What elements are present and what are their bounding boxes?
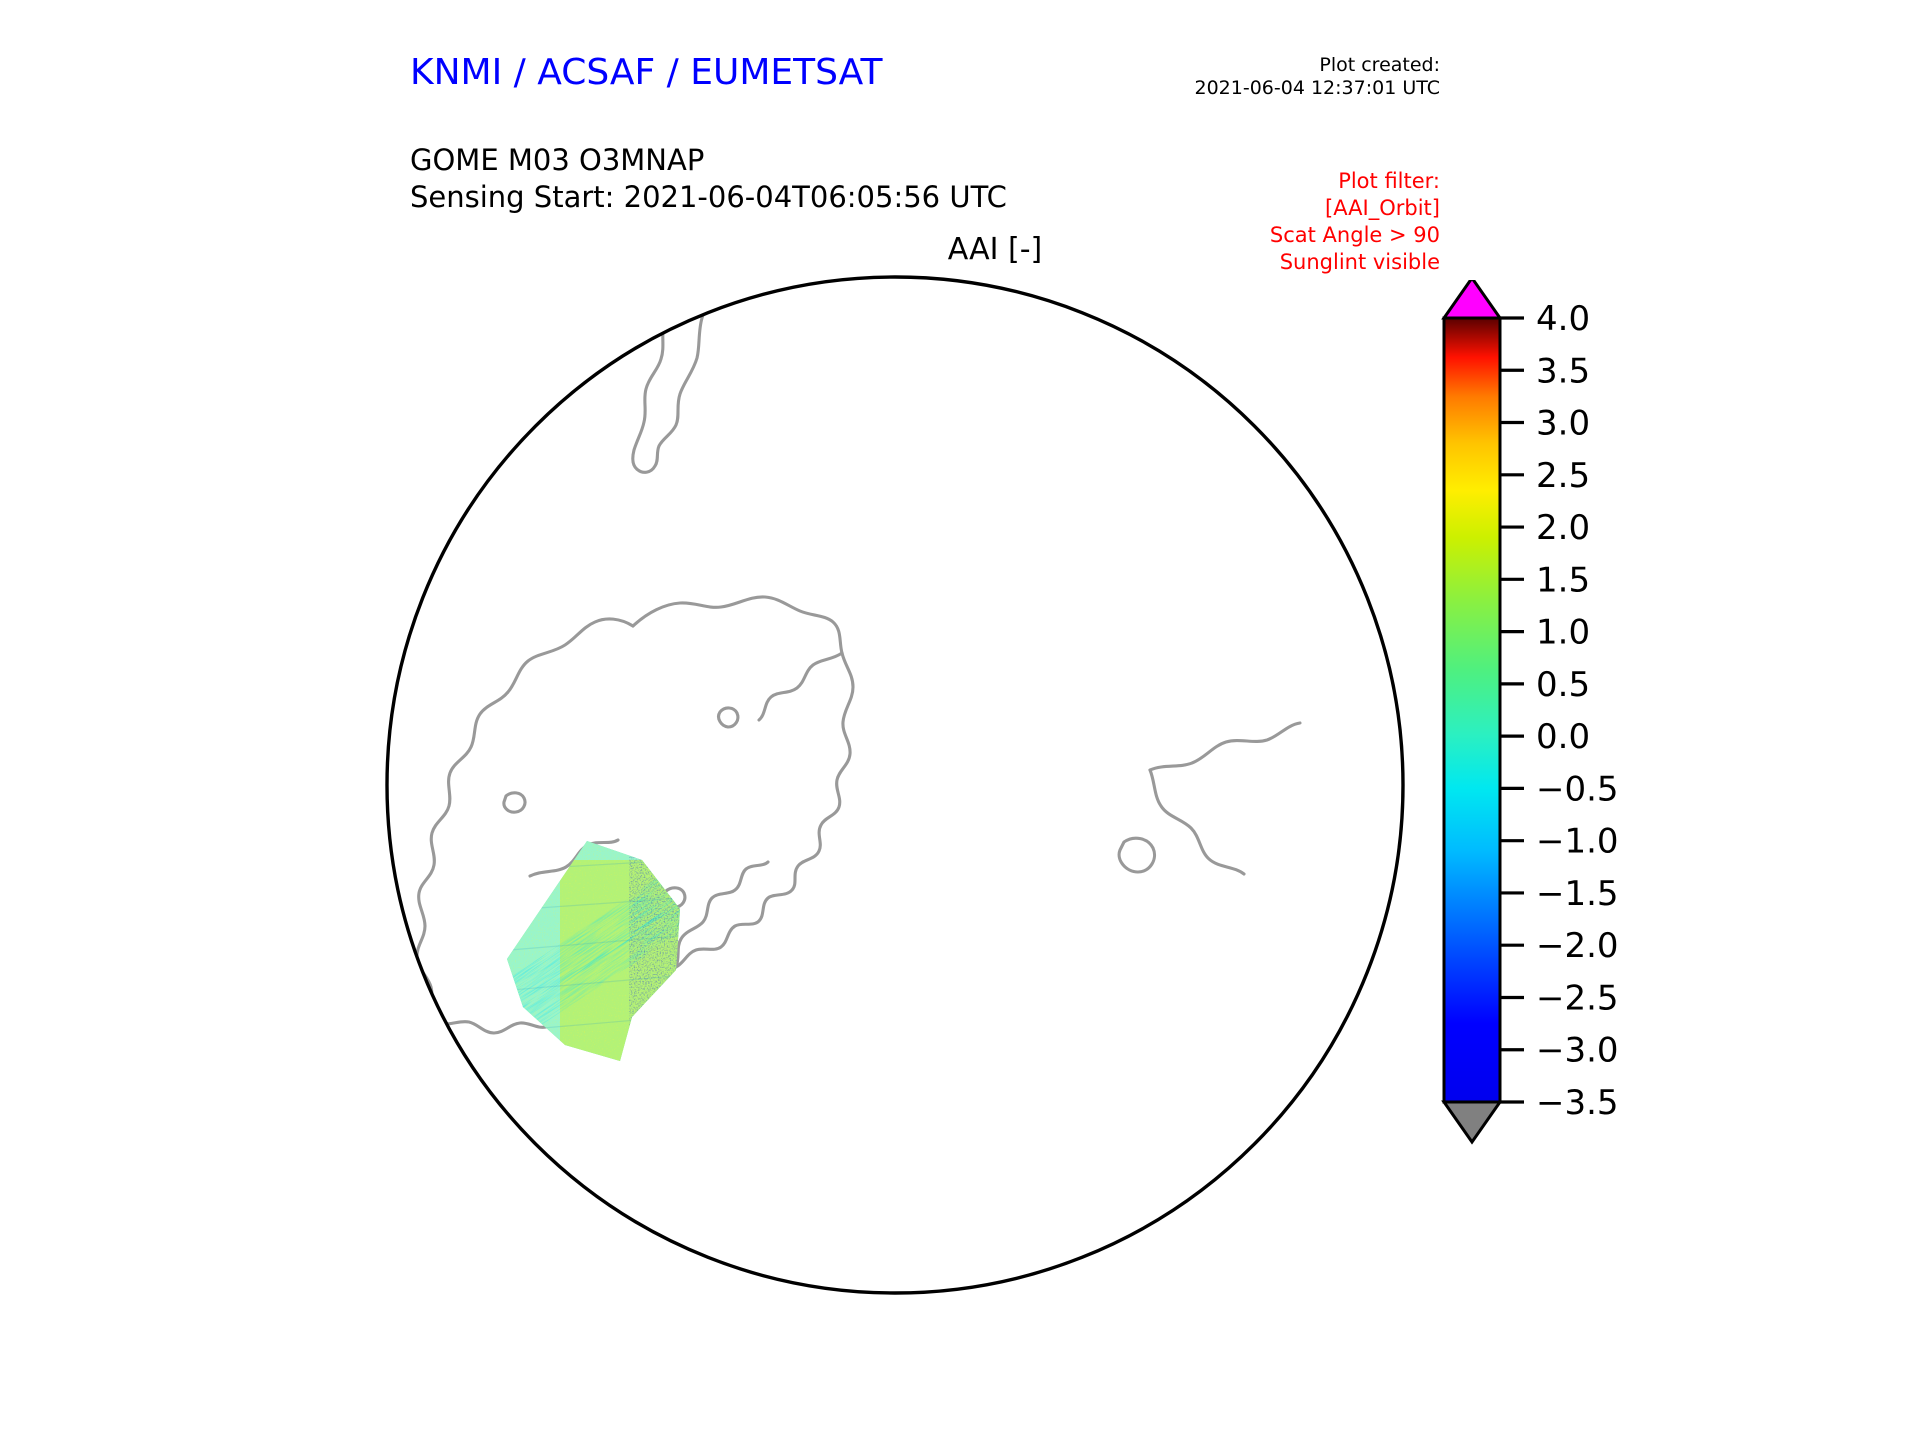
colorbar: 4.03.53.02.52.01.51.00.50.0−0.5−1.0−1.5−… xyxy=(1432,280,1762,1300)
organization-title: KNMI / ACSAF / EUMETSAT xyxy=(410,52,882,93)
plot-created-timestamp: 2021-06-04 12:37:01 UTC xyxy=(1020,77,1440,100)
colorbar-tick-label: 3.0 xyxy=(1536,404,1590,444)
colorbar-tick-label: 1.5 xyxy=(1536,560,1590,600)
plot-filter-name: [AAI_Orbit] xyxy=(1060,195,1440,222)
colorbar-tick-label: −0.5 xyxy=(1536,769,1619,809)
plot-filter-label: Plot filter: xyxy=(1060,168,1440,195)
colorbar-tick-label: −3.5 xyxy=(1536,1083,1619,1123)
colorbar-tick-label: 1.0 xyxy=(1536,613,1590,653)
colorbar-under-arrow xyxy=(1444,1102,1500,1142)
aai-plot-page: KNMI / ACSAF / EUMETSAT Plot created: 20… xyxy=(0,0,1920,1440)
colorbar-over-arrow xyxy=(1444,280,1500,318)
colorbar-tick-label: −2.0 xyxy=(1536,926,1619,966)
polar-map xyxy=(380,270,1410,1300)
quantity-title: AAI [-] xyxy=(0,232,1920,267)
colorbar-tick-label: 2.5 xyxy=(1536,456,1590,496)
coast-falkland-islands xyxy=(556,335,590,363)
colorbar-tick-label: −1.0 xyxy=(1536,822,1619,862)
plot-created-block: Plot created: 2021-06-04 12:37:01 UTC xyxy=(1020,54,1440,100)
colorbar-tick-label: −3.0 xyxy=(1536,1031,1619,1071)
colorbar-tick-label: −2.5 xyxy=(1536,978,1619,1018)
colorbar-tick-label: 0.0 xyxy=(1536,717,1590,757)
colorbar-tick-label: 3.5 xyxy=(1536,351,1590,391)
colorbar-tick-label: 4.0 xyxy=(1536,299,1590,339)
plot-created-label: Plot created: xyxy=(1020,54,1440,77)
colorbar-tick-label: −1.5 xyxy=(1536,874,1619,914)
dataset-name: GOME M03 O3MNAP xyxy=(410,142,1007,179)
plot-filter-scat-angle: Scat Angle > 90 xyxy=(1060,222,1440,249)
plot-filter-block: Plot filter: [AAI_Orbit] Scat Angle > 90… xyxy=(1060,168,1440,276)
colorbar-gradient-bar xyxy=(1444,318,1500,1102)
sensing-start: Sensing Start: 2021-06-04T06:05:56 UTC xyxy=(410,179,1007,216)
colorbar-tick-label: 2.0 xyxy=(1536,508,1590,548)
globe-disc xyxy=(387,277,1403,1293)
colorbar-tick-label: 0.5 xyxy=(1536,665,1590,705)
colorbar-ticks: 4.03.53.02.52.01.51.00.50.0−0.5−1.0−1.5−… xyxy=(1500,299,1619,1123)
dataset-info-block: GOME M03 O3MNAP Sensing Start: 2021-06-0… xyxy=(410,142,1007,216)
